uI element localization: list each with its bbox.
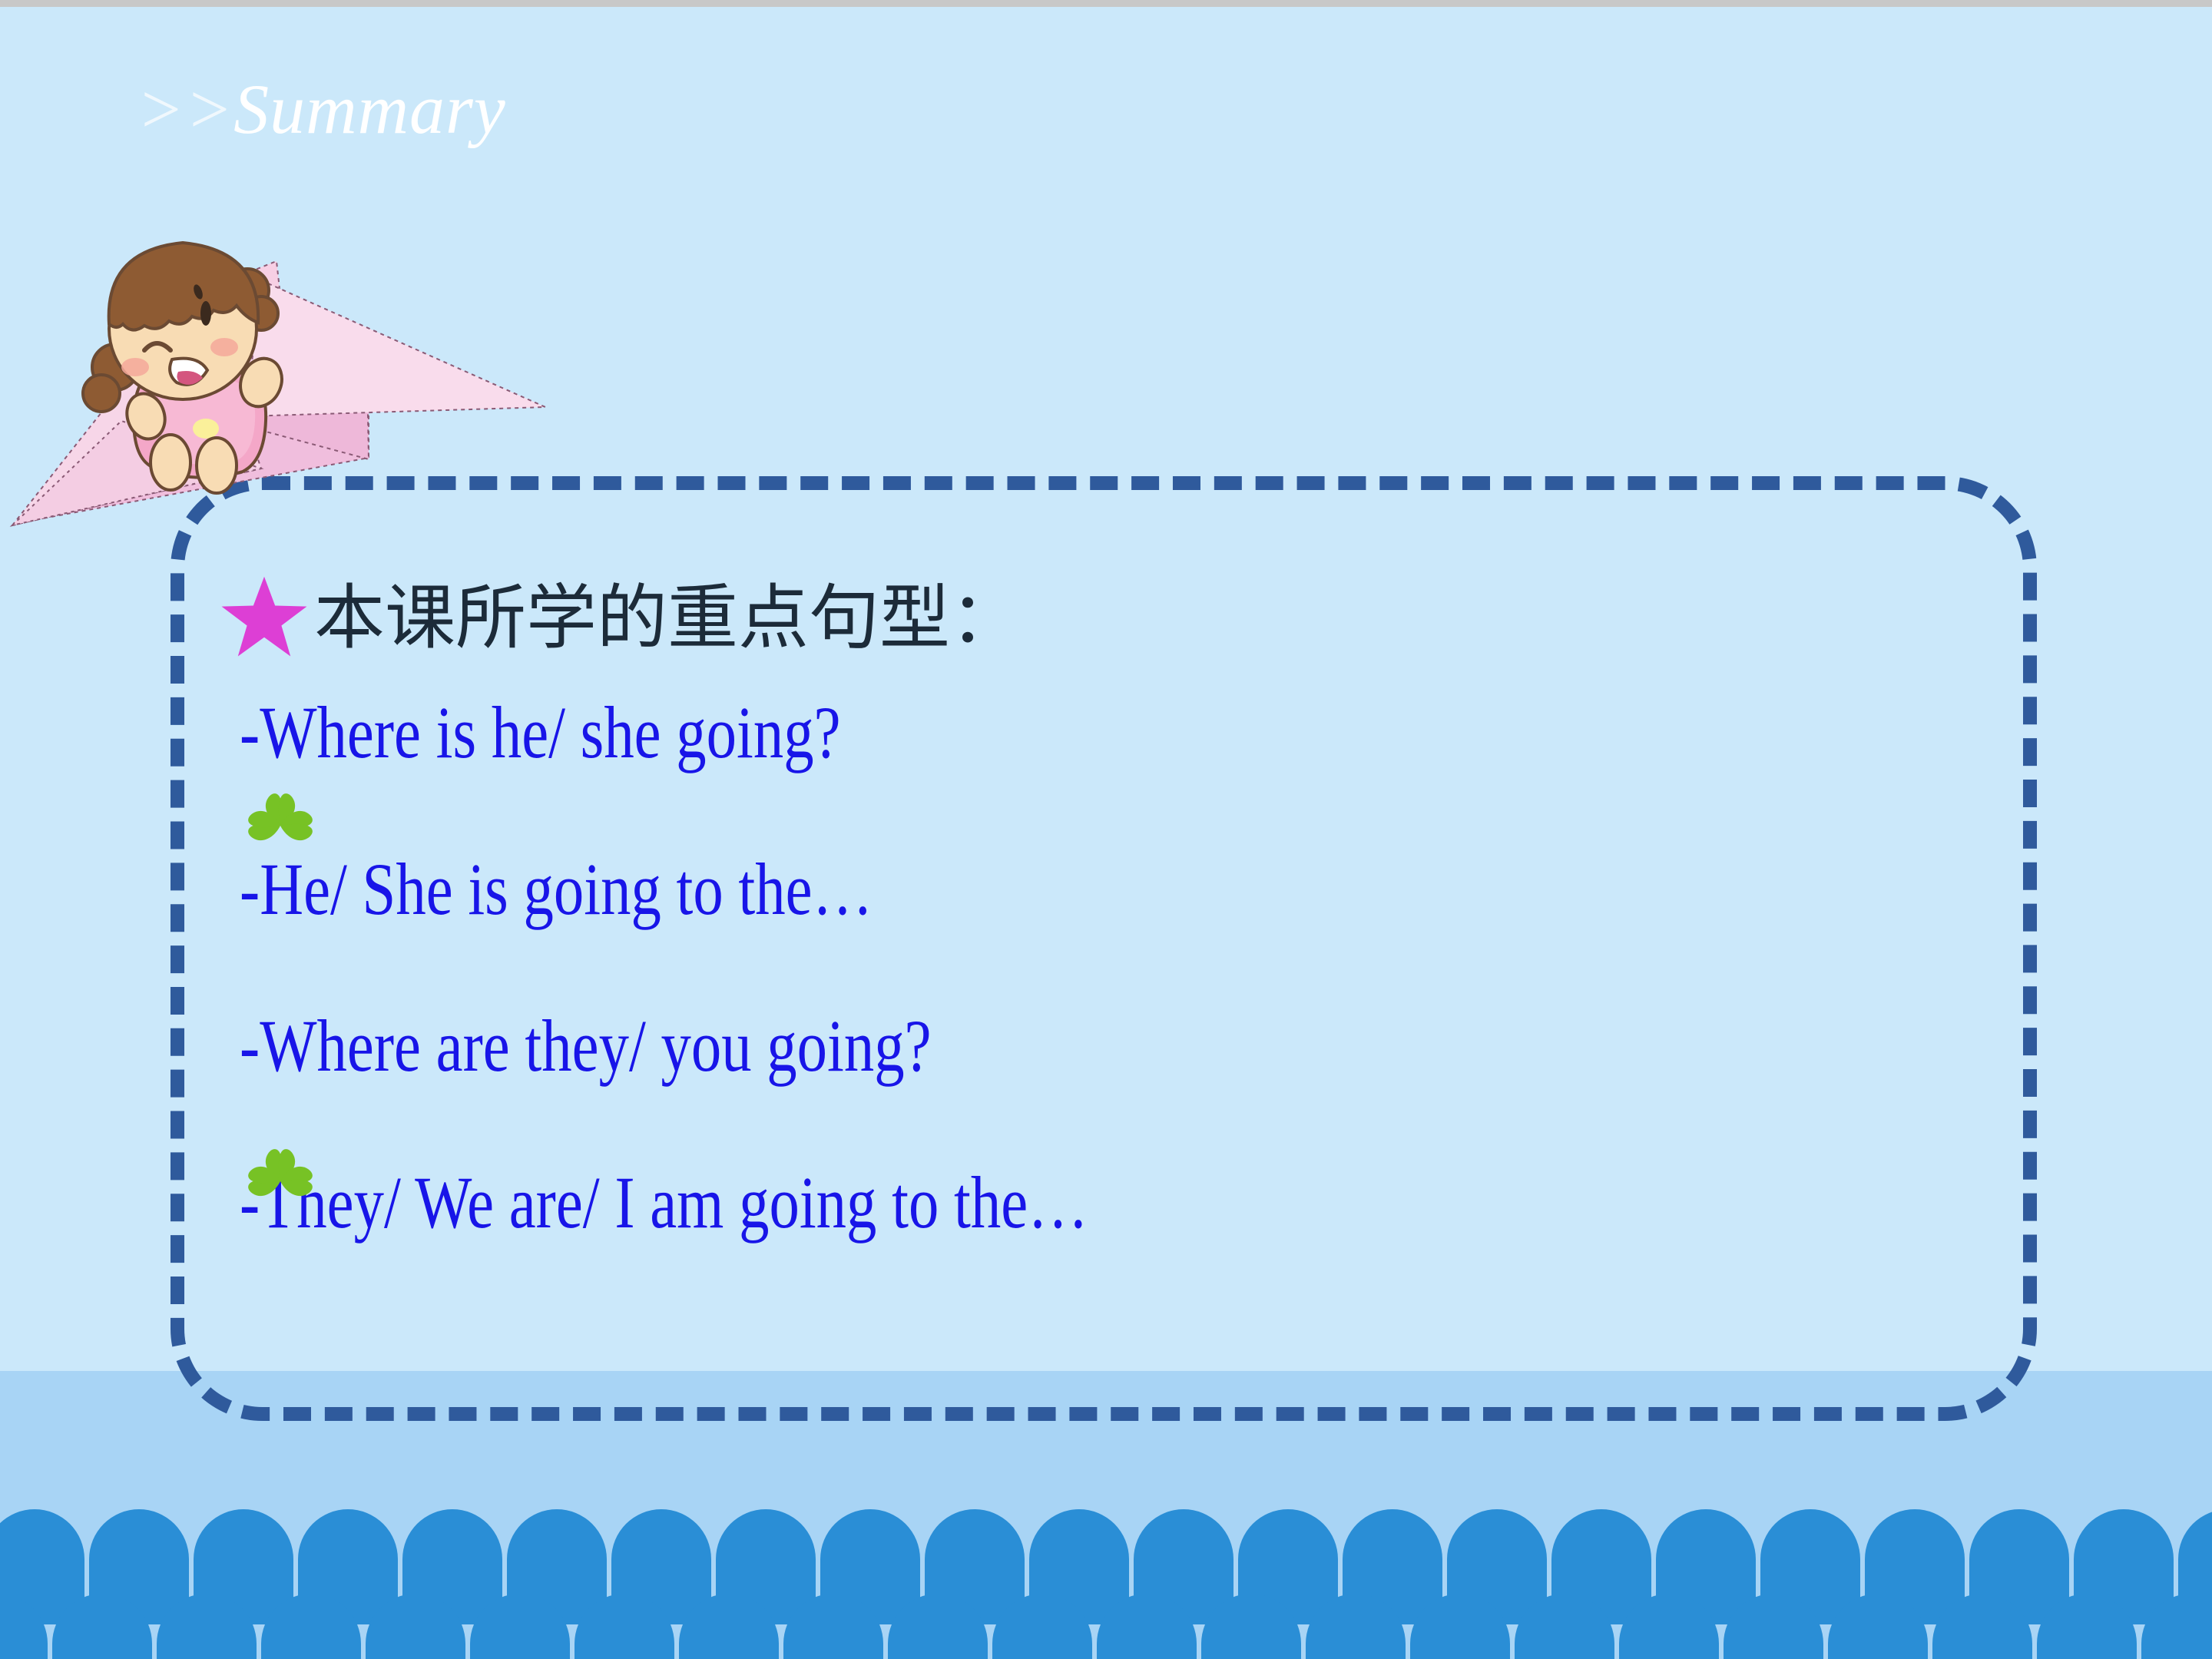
scallop-arch [992, 1594, 1092, 1659]
scallop-arch [1724, 1594, 1823, 1659]
scallop-arch [366, 1594, 465, 1659]
summary-heading-row: 本课所学的重点句型： [219, 568, 1997, 668]
scallop-arch [52, 1594, 152, 1659]
title-text: Summary [233, 70, 506, 148]
scallop-arch [2037, 1594, 2137, 1659]
scallop-arch [1410, 1594, 1510, 1659]
title-chevrons: >> [137, 70, 233, 148]
sentence-pattern-3: -Where are they/ you going? [240, 1009, 1681, 1083]
scallop-arch [0, 1594, 48, 1659]
slide-canvas: >>Summary [0, 0, 2212, 1659]
summary-content: 本课所学的重点句型： -Where is he/ she going? -He/… [192, 568, 1997, 1240]
scallop-arch [1828, 1594, 1928, 1659]
sentence-pattern-1: -Where is he/ she going? [240, 696, 1681, 770]
star-icon [219, 573, 310, 664]
summary-heading-text: 本课所学的重点句型： [314, 581, 1021, 656]
sentence-pattern-4: -They/ We are/ I am going to the… [240, 1166, 1681, 1240]
paper-plane-with-girl-illustration [8, 215, 561, 614]
scallop-arch [1619, 1594, 1719, 1659]
scallop-arch [1097, 1594, 1197, 1659]
page-title: >>Summary [137, 74, 506, 144]
capture-top-strip [0, 0, 2212, 7]
scallop-arch [1515, 1594, 1614, 1659]
clover-icon [234, 780, 326, 872]
scallop-arch [470, 1594, 570, 1659]
scallop-arch [157, 1594, 257, 1659]
scallop-row-lower [0, 1594, 2212, 1659]
scallop-arch [679, 1594, 779, 1659]
clover-icon [234, 1135, 326, 1227]
scallop-arch [783, 1594, 883, 1659]
scallop-arch [1201, 1594, 1301, 1659]
scallop-arch [888, 1594, 988, 1659]
scallop-arch [2141, 1594, 2212, 1659]
scallop-arch [575, 1594, 674, 1659]
scallop-arch [261, 1594, 361, 1659]
scallop-arch [1932, 1594, 2032, 1659]
sentence-pattern-2: -He/ She is going to the… [240, 853, 1681, 926]
scallop-arch [1306, 1594, 1406, 1659]
